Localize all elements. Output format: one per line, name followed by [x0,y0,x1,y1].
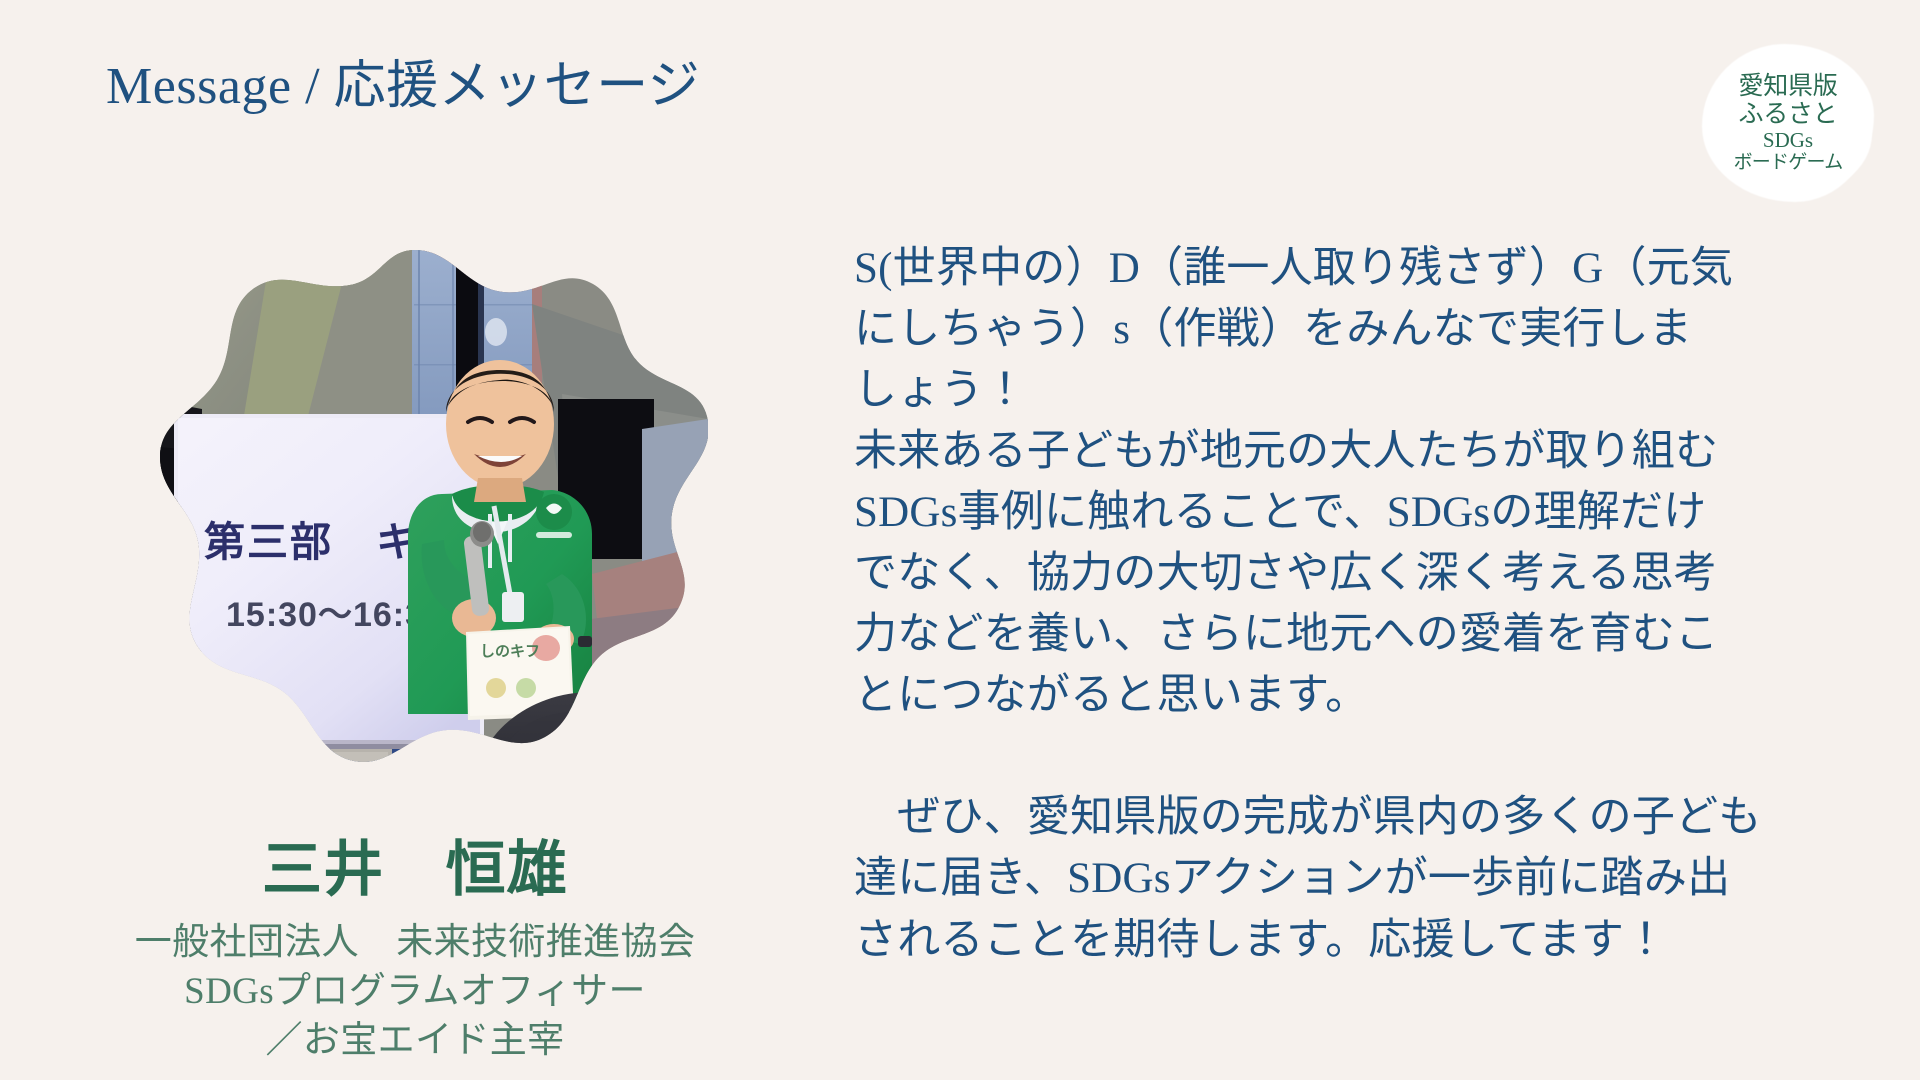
message-line: 達に届き、SDGsアクションが一歩前に踏み出 [854,855,1730,902]
speaker-photo-svg: 第三部 キフ 15:30〜16:30 [122,244,708,830]
message-body: S(世界中の）D（誰一人取り残さず）G（元気 にしちゃう）s（作戦）をみんなで実… [854,238,1854,971]
message-paragraph: S(世界中の）D（誰一人取り残さず）G（元気 にしちゃう）s（作戦）をみんなで実… [854,238,1854,726]
speaker-photo: 第三部 キフ 15:30〜16:30 [122,244,708,830]
badge-line-furusato: ふるさと [1738,101,1837,128]
message-line: 力などを養い、さらに地元への愛着を育むこ [854,611,1718,658]
message-paragraph: ぜひ、愛知県版の完成が県内の多くの子ども 達に届き、SDGsアクションが一歩前に… [854,787,1854,970]
brand-badge: 愛知県版 ふるさと SDGs ボードゲーム [1702,44,1874,202]
speaker-affiliation: 一般社団法人 未来技術推進協会 SDGsプログラムオフィサー ／お宝エイド主宰 [0,918,830,1066]
photo-content: 第三部 キフ 15:30〜16:30 [122,244,708,830]
badge-line-prefecture: 愛知県版 [1738,73,1837,100]
page-title: Message / 応援メッセージ [106,58,700,116]
message-line: しょう！ [854,367,1027,414]
message-line: とにつながると思います。 [854,672,1368,719]
badge-line-boardgame: ボードゲーム [1734,153,1843,174]
affiliation-line: SDGsプログラムオフィサー [0,967,830,1016]
slide-canvas: Message / 応援メッセージ 愛知県版 ふるさと SDGs ボードゲーム [0,0,1920,1080]
badge-line-sdgs: SDGs [1763,129,1813,152]
message-line: されることを期待します。応援してます！ [854,917,1667,964]
svg-text:しのキフ: しのキフ [480,643,540,660]
message-line: 未来ある子どもが地元の大人たちが取り組む [854,428,1718,475]
message-line: SDGs事例に触れることで、SDGsの理解だけ [854,489,1706,536]
message-line: でなく、協力の大切さや広く深く考える思考 [854,550,1717,597]
message-line: ぜひ、愛知県版の完成が県内の多くの子ども [854,794,1762,841]
message-line: S(世界中の）D（誰一人取り残さず）G（元気 [854,245,1733,292]
affiliation-line: 一般社団法人 未来技術推進協会 [0,918,830,967]
speaker-name: 三井 恒雄 [0,838,830,903]
badge-text: 愛知県版 ふるさと SDGs ボードゲーム [1702,44,1874,202]
message-line: にしちゃう）s（作戦）をみんなで実行しま [854,306,1692,353]
affiliation-line: ／お宝エイド主宰 [0,1016,830,1065]
